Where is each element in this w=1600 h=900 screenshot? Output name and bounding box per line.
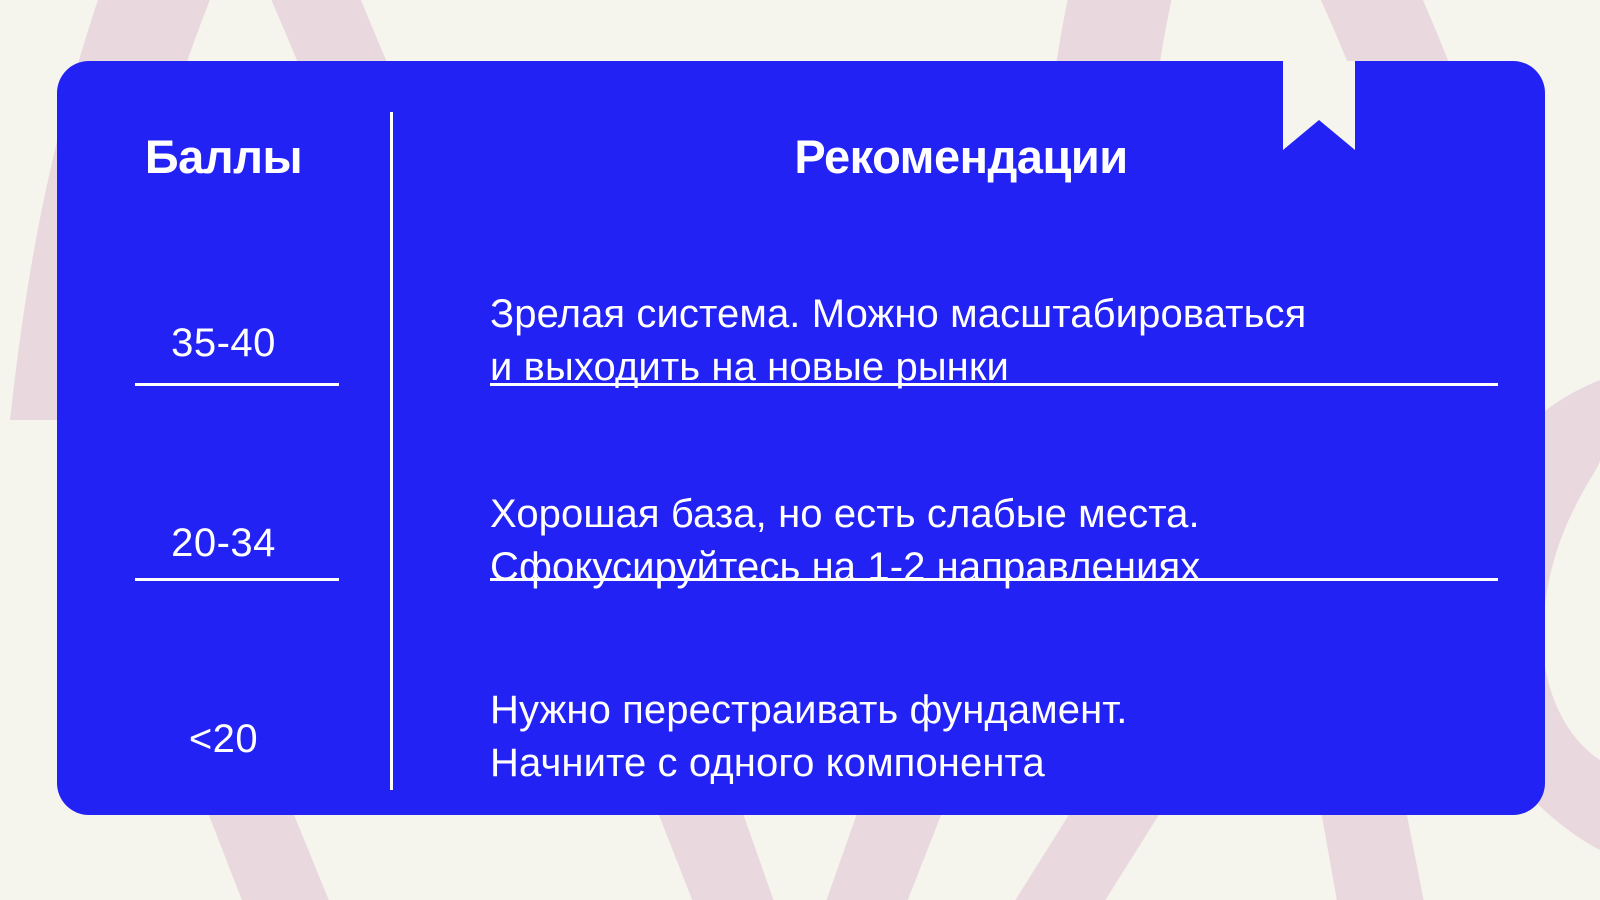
recommendation-separator-1 <box>490 383 1498 386</box>
recommendation-row-1-line-1: Зрелая система. Можно масштабироваться <box>490 288 1500 341</box>
score-value-row-3: <20 <box>57 716 390 762</box>
recommendation-row-2-line-1: Хорошая база, но есть слабые места. <box>490 488 1500 541</box>
score-value-row-2: 20-34 <box>57 520 390 566</box>
score-column: Баллы 35-40 20-34 <20 <box>57 61 390 815</box>
recommendation-separator-2 <box>490 578 1498 581</box>
recommendation-row-2-line-2: Сфокусируйтесь на 1-2 направлениях <box>490 541 1500 594</box>
score-column-header: Баллы <box>57 133 390 180</box>
recommendation-text-row-3: Нужно перестраивать фундамент. Начните с… <box>490 684 1500 790</box>
recommendation-row-3-line-1: Нужно перестраивать фундамент. <box>490 684 1500 737</box>
score-separator-1 <box>135 383 339 386</box>
score-separator-2 <box>135 578 339 581</box>
recommendation-column-header: Рекомендации <box>433 133 1489 180</box>
recommendation-row-3-line-2: Начните с одного компонента <box>490 737 1500 790</box>
column-divider <box>390 112 393 790</box>
recommendation-text-row-1: Зрелая система. Можно масштабироваться и… <box>490 288 1500 394</box>
score-value-row-1: 35-40 <box>57 320 390 366</box>
recommendations-card: Баллы 35-40 20-34 <20 Рекомендации Зрела… <box>57 61 1545 815</box>
recommendation-column: Рекомендации Зрелая система. Можно масшт… <box>433 61 1545 815</box>
recommendation-row-1-line-2: и выходить на новые рынки <box>490 341 1500 394</box>
